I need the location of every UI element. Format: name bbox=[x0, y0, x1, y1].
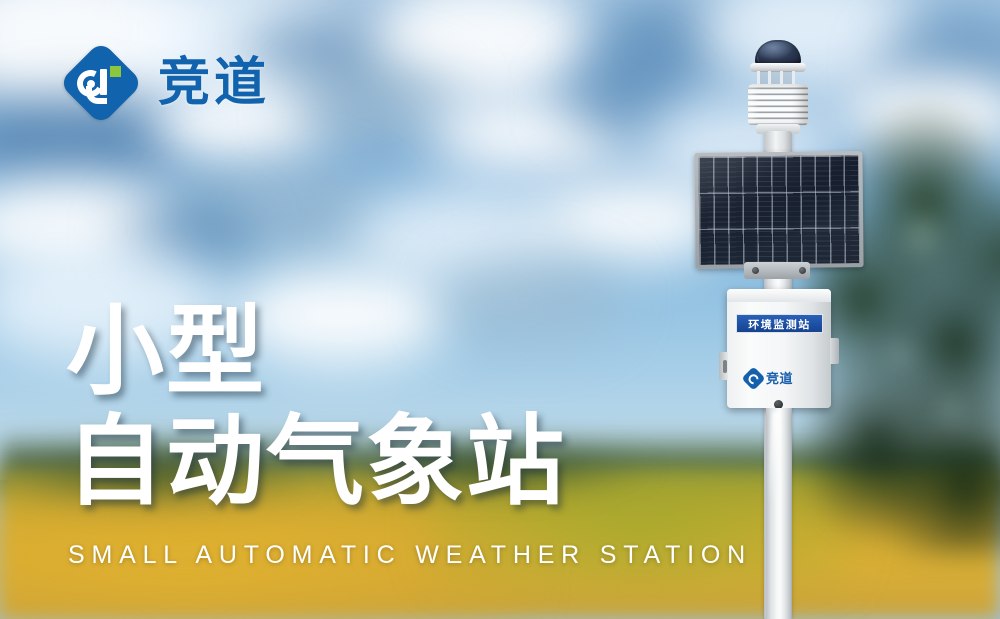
bolt-icon bbox=[752, 267, 759, 274]
headline-line-1: 小型 bbox=[66, 302, 566, 400]
sensor-neck bbox=[764, 131, 792, 151]
enclosure-label-text: 环境监测站 bbox=[748, 316, 811, 331]
brand-logo[interactable]: 竞道 bbox=[62, 44, 270, 122]
headline: 小型 自动气象站 bbox=[66, 302, 566, 510]
subtitle-text: SMALL AUTOMATIC WEATHER STATION bbox=[68, 541, 752, 570]
solar-panel-icon bbox=[694, 151, 863, 269]
cj-diamond-logo-icon bbox=[62, 44, 140, 122]
cj-diamond-logo-icon bbox=[741, 366, 765, 390]
enclosure-box bbox=[727, 289, 831, 408]
sensor-dome-facets bbox=[757, 42, 799, 62]
enclosure-box-top bbox=[727, 289, 831, 302]
brand-name-text: 竞道 bbox=[158, 57, 270, 109]
enclosure-vent bbox=[723, 360, 727, 373]
enclosure-brand-name: 竞道 bbox=[766, 372, 793, 385]
enclosure-label-banner: 环境监测站 bbox=[736, 314, 823, 333]
enclosure-flange-right bbox=[830, 338, 839, 364]
solar-panel-gloss bbox=[698, 155, 859, 265]
radiation-shield-icon bbox=[748, 84, 808, 126]
headline-line-2: 自动气象站 bbox=[66, 412, 566, 510]
tree-highlight bbox=[880, 195, 1000, 455]
product-banner: 环境监测站 竞道 竞道 小型 自动气象站 SMALL AUTOMATIC WEA… bbox=[0, 0, 1000, 619]
bolt-icon bbox=[799, 267, 806, 274]
enclosure-brand-logo: 竞道 bbox=[745, 368, 815, 388]
logo-green-square bbox=[110, 66, 121, 77]
